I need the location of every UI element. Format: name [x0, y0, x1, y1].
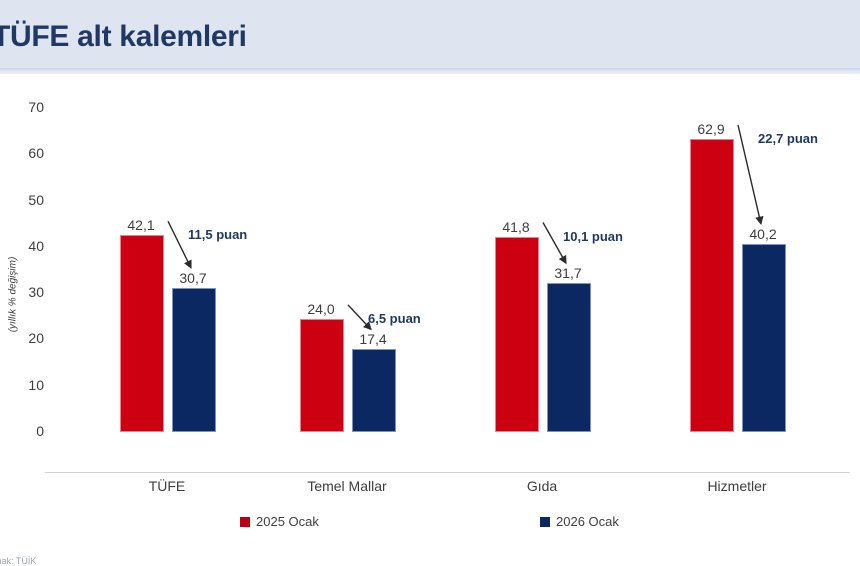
y-axis-tick-50: 50: [0, 192, 44, 208]
page-title: TÜFE alt kalemleri: [0, 20, 412, 54]
y-axis-tick-40: 40: [0, 238, 44, 254]
bar-value-label: 40,2: [728, 226, 798, 242]
chart-container: (yıllık % değişim) 010203040506070 42,13…: [0, 74, 860, 504]
x-axis-line: [45, 472, 850, 473]
legend-swatch-icon: [540, 517, 550, 527]
bar-value-label: 24,0: [286, 301, 356, 317]
plot-area: 42,130,711,5 puan24,017,46,5 puan41,831,…: [55, 108, 845, 432]
legend-2026-ocak[interactable]: 2026 Ocak: [540, 514, 619, 529]
x-axis-label-hizmetler: Hizmetler: [647, 478, 827, 494]
annotation-temel-mallar: 6,5 puan: [368, 311, 421, 326]
legend-2025-ocak[interactable]: 2025 Ocak: [240, 514, 319, 529]
bar-2026-temel-mallar[interactable]: [352, 349, 396, 432]
legend-label: 2026 Ocak: [556, 514, 619, 529]
bar-value-label: 30,7: [158, 270, 228, 286]
y-axis-tick-0: 0: [0, 423, 44, 439]
x-axis-label-temel-mallar: Temel Mallar: [257, 478, 437, 494]
bar-group-gıda: 41,831,7: [495, 108, 589, 432]
bar-2026-tüfe[interactable]: [172, 288, 216, 432]
bar-2026-hizmetler[interactable]: [742, 244, 786, 432]
bar-2026-gıda[interactable]: [547, 283, 591, 432]
annotation-tüfe: 11,5 puan: [188, 227, 247, 242]
x-axis-label-gıda: Gıda: [452, 478, 632, 494]
legend-swatch-icon: [240, 517, 250, 527]
y-axis-tick-10: 10: [0, 377, 44, 393]
y-axis-tick-30: 30: [0, 284, 44, 300]
slide-root: TÜFE alt kalemleri (yıllık % değişim) 01…: [0, 0, 860, 504]
y-axis-tick-60: 60: [0, 145, 44, 161]
source-note: Kaynak: TÜİK: [0, 556, 36, 566]
bar-group-tüfe: 42,130,7: [120, 108, 214, 432]
x-axis-label-tüfe: TÜFE: [77, 478, 257, 494]
bar-group-hizmetler: 62,940,2: [690, 108, 784, 432]
legend-label: 2025 Ocak: [256, 514, 319, 529]
annotation-hizmetler: 22,7 puan: [758, 131, 818, 146]
y-axis-tick-70: 70: [0, 99, 44, 115]
bar-group-temel-mallar: 24,017,4: [300, 108, 394, 432]
bar-value-label: 31,7: [533, 265, 603, 281]
bar-2025-tüfe[interactable]: [120, 235, 164, 432]
bar-value-label: 62,9: [676, 121, 746, 137]
bar-2025-hizmetler[interactable]: [690, 139, 734, 432]
y-axis-tick-20: 20: [0, 330, 44, 346]
bar-value-label: 42,1: [106, 217, 176, 233]
bar-value-label: 41,8: [481, 219, 551, 235]
bar-value-label: 17,4: [338, 331, 408, 347]
chart-legend: 2025 Ocak2026 Ocak: [0, 514, 860, 538]
annotation-gıda: 10,1 puan: [563, 229, 623, 244]
